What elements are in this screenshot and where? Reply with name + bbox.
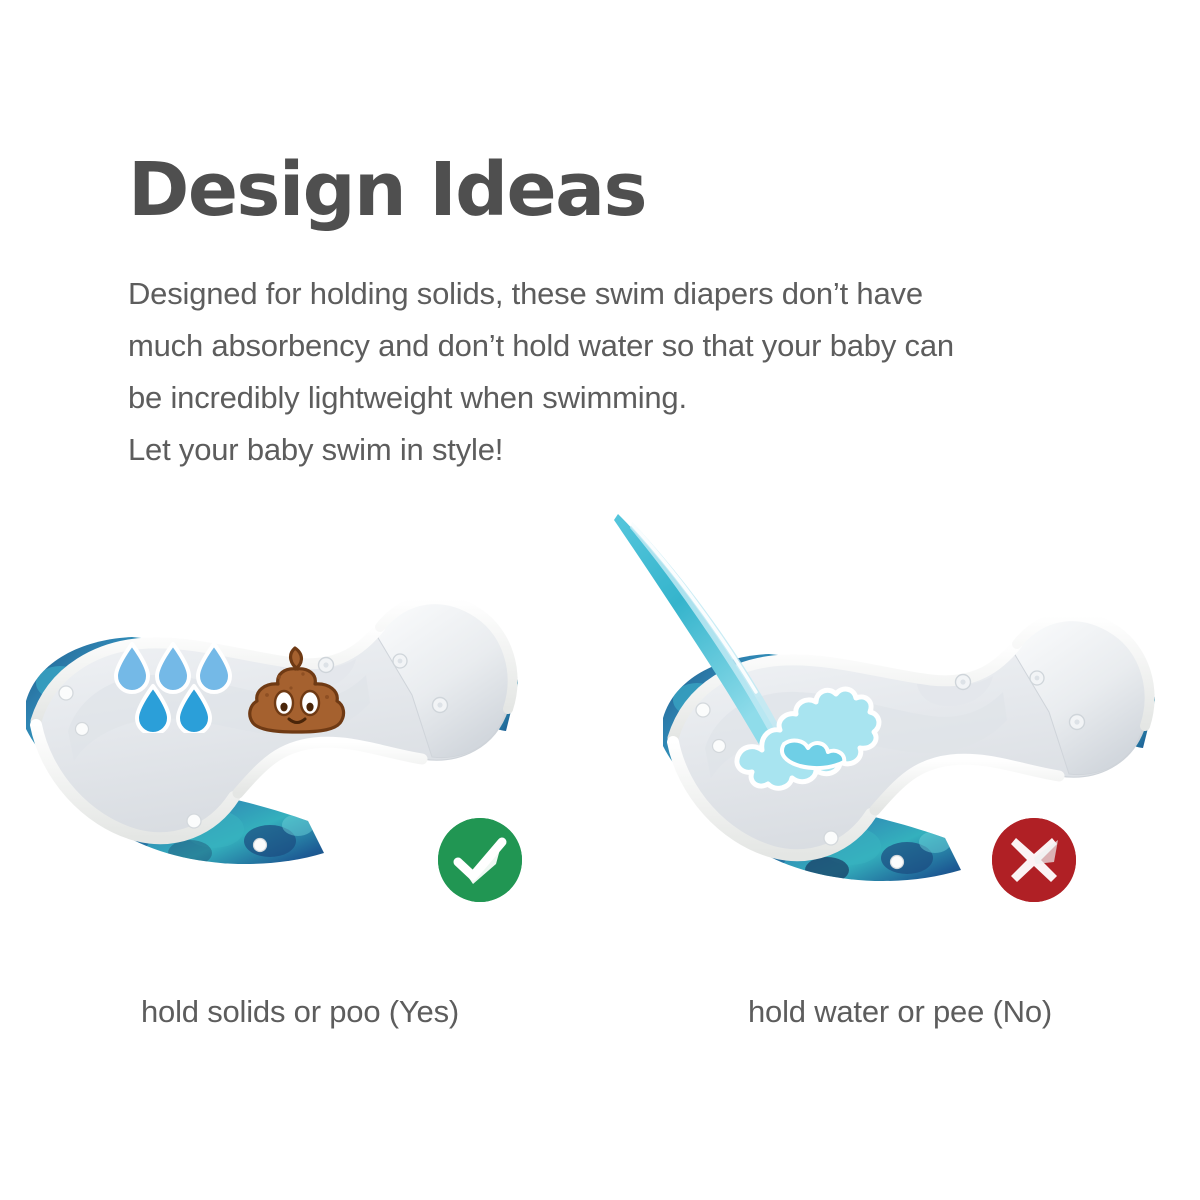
- poo-emoji-icon: [245, 643, 350, 738]
- infographic-canvas: Design Ideas Designed for holding solids…: [0, 0, 1200, 1200]
- product-stage-yes: [0, 498, 600, 958]
- check-circle-icon: [438, 818, 522, 902]
- description-line-1: Designed for holding solids, these swim …: [128, 268, 1128, 320]
- description-paragraph: Designed for holding solids, these swim …: [128, 268, 1128, 476]
- caption-yes: hold solids or poo (Yes): [0, 994, 600, 1030]
- page-title: Design Ideas: [128, 152, 1128, 230]
- comparison-section: hold solids or poo (Yes): [0, 498, 1200, 1118]
- water-jet: [614, 514, 782, 746]
- header-block: Design Ideas Designed for holding solids…: [128, 152, 1128, 476]
- comparison-panel-no: hold water or pee (No): [600, 498, 1200, 1118]
- description-line-4: Let your baby swim in style!: [128, 424, 1128, 476]
- water-stream-icon: [610, 506, 990, 796]
- description-line-2: much absorbency and don’t hold water so …: [128, 320, 1128, 372]
- caption-no: hold water or pee (No): [600, 994, 1200, 1030]
- water-droplets-icon: [110, 638, 240, 733]
- cross-circle-icon: [992, 818, 1076, 902]
- description-line-3: be incredibly lightweight when swimming.: [128, 372, 1128, 424]
- water-jet-highlight: [630, 522, 790, 748]
- product-stage-no: [600, 498, 1200, 958]
- comparison-panel-yes: hold solids or poo (Yes): [0, 498, 600, 1118]
